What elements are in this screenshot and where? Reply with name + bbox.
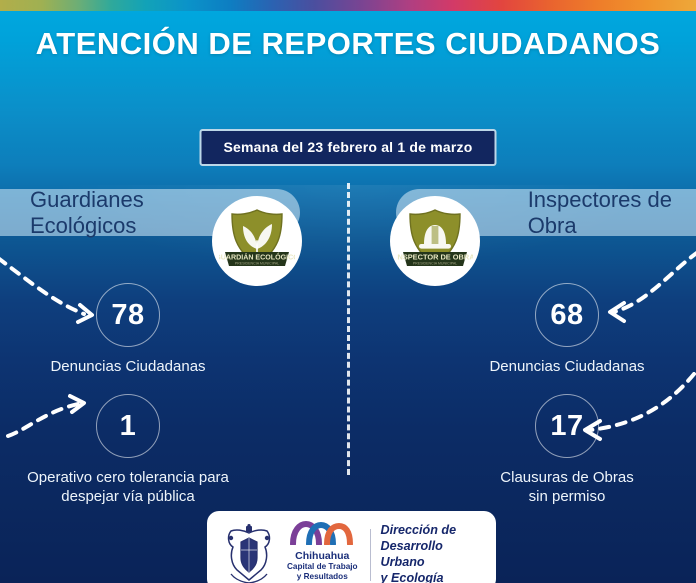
guardian-ecologico-badge: GUARDIÁN ECOLÓGICO PRESIDENCIA MUNICIPAL: [212, 196, 302, 286]
chihuahua-logo: Chihuahua Capital de Trabajo y Resultado…: [285, 521, 360, 583]
stat-denuncias-inspectores: 68 Denuncias Ciudadanas: [497, 283, 637, 377]
stat-label: Denuncias Ciudadanas: [0, 358, 258, 377]
stat-value: 68: [550, 301, 583, 330]
rainbow-strip: [0, 0, 696, 11]
stat-circle: 17: [535, 394, 599, 458]
stat-label: Operativo cero tolerancia para despejar …: [0, 469, 258, 507]
stat-denuncias-guardianes: 78 Denuncias Ciudadanas: [58, 283, 198, 377]
stat-label: Clausuras de Obras sin permiso: [437, 469, 696, 507]
chihuahua-arches-icon: [287, 521, 357, 545]
stat-value: 17: [550, 412, 583, 441]
section-title-right: Inspectores de Obra: [528, 187, 672, 238]
center-dashed-divider: [347, 183, 350, 475]
city-tagline: Capital de Trabajo y Resultados: [287, 562, 358, 581]
stat-value: 1: [120, 412, 137, 441]
shield-leaf-icon: GUARDIÁN ECOLÓGICO PRESIDENCIA MUNICIPAL: [219, 203, 295, 279]
footer-logo-card: Chihuahua Capital de Trabajo y Resultado…: [207, 511, 496, 583]
badge-ribbon-text-right: INSPECTOR DE OBRA: [397, 253, 473, 262]
shield-helmet-icon: INSPECTOR DE OBRA PRESIDENCIA MUNICIPAL: [397, 203, 473, 279]
date-range-banner: Semana del 23 febrero al 1 de marzo: [200, 129, 497, 166]
badge-ribbon-text-left: GUARDIÁN ECOLÓGICO: [219, 253, 295, 262]
infographic-root: ATENCIÓN DE REPORTES CIUDADANOS Semana d…: [0, 0, 696, 583]
svg-text:PRESIDENCIA MUNICIPAL: PRESIDENCIA MUNICIPAL: [235, 261, 279, 265]
inspector-de-obra-badge: INSPECTOR DE OBRA PRESIDENCIA MUNICIPAL: [390, 196, 480, 286]
stat-circle: 78: [96, 283, 160, 347]
city-name: Chihuahua: [287, 551, 358, 562]
stat-operativo-guardianes: 1 Operativo cero tolerancia para despeja…: [58, 394, 198, 507]
coat-of-arms-icon: [221, 524, 277, 583]
stat-value: 78: [111, 301, 144, 330]
stat-circle: 68: [535, 283, 599, 347]
page-title: ATENCIÓN DE REPORTES CIUDADANOS: [0, 24, 696, 64]
section-title-left: Guardianes Ecológicos: [30, 187, 144, 238]
department-name: Dirección de Desarrollo Urbano y Ecologí…: [381, 523, 486, 583]
stat-circle: 1: [96, 394, 160, 458]
stat-clausuras-inspectores: 17 Clausuras de Obras sin permiso: [497, 394, 637, 507]
svg-text:PRESIDENCIA MUNICIPAL: PRESIDENCIA MUNICIPAL: [413, 261, 457, 265]
stat-label: Denuncias Ciudadanas: [437, 358, 696, 377]
footer-divider: [370, 529, 371, 581]
